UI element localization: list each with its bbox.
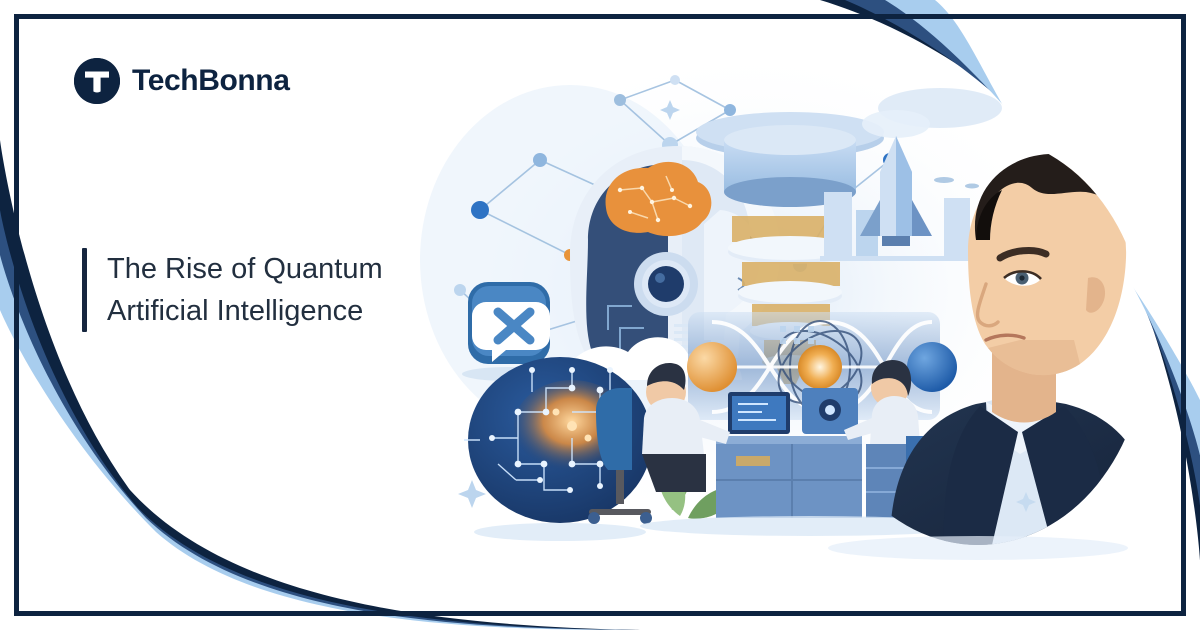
page-title: The Rise of Quantum Artificial Intellige… [107, 248, 383, 332]
man-portrait [810, 135, 1156, 545]
logo-t-circle-icon [74, 58, 120, 104]
brand-name: TechBonna [132, 64, 290, 98]
social-card: TechBonna The Rise of Quantum Artificial… [0, 0, 1200, 630]
atom-node-orange-left [687, 342, 737, 392]
headline-line-1: The Rise of Quantum [107, 248, 383, 290]
brand-logo[interactable]: TechBonna [74, 58, 290, 104]
headline-line-2: Artificial Intelligence [107, 290, 383, 332]
hero-illustration [420, 40, 1160, 560]
headline-accent-bar [82, 248, 87, 332]
headline-block: The Rise of Quantum Artificial Intellige… [82, 248, 383, 332]
